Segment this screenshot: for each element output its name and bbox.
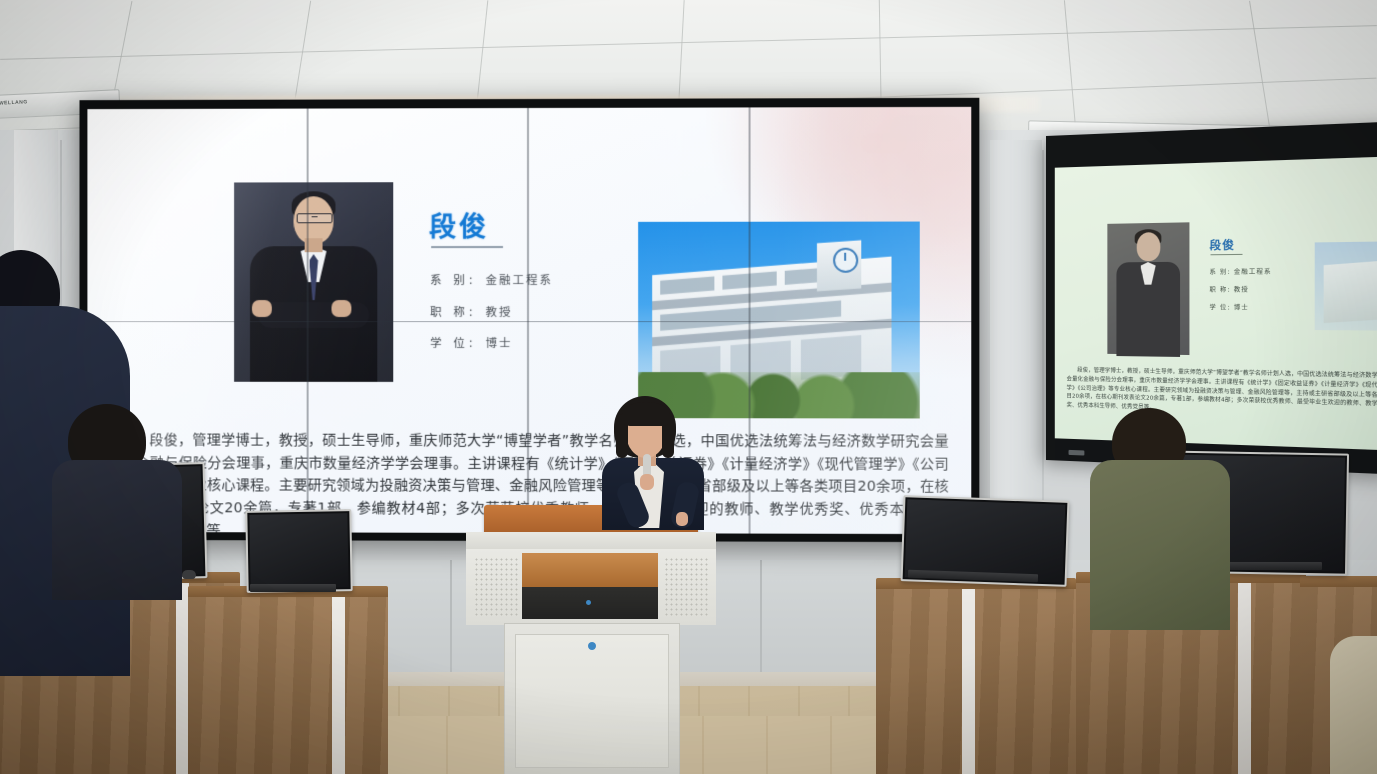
panel-seam-h1: [87, 320, 971, 322]
eyeglasses-icon: [297, 213, 333, 223]
housing-brand-label: WELLANG: [0, 99, 28, 106]
slide-meta-department: 系 别:金融工程系: [430, 272, 553, 288]
classroom-photo-scene: WELLANG: [0, 0, 1377, 774]
slide-decor-blob-2: [860, 133, 906, 153]
faculty-portrait-photo: [234, 182, 393, 382]
side-meta-department: 系 别: 金融工程系: [1209, 266, 1271, 276]
lectern-indicator-led: [586, 600, 591, 605]
side-display-logo: [1069, 450, 1085, 456]
audience-right-mid: [1094, 408, 1224, 608]
side-meta-value-title: 教授: [1234, 286, 1249, 293]
side-meta-value-dept: 金融工程系: [1234, 268, 1272, 276]
side-campus-building-photo: [1315, 241, 1377, 331]
side-meta-label-title: 职 称:: [1209, 286, 1230, 293]
side-portrait-photo: [1107, 222, 1189, 355]
speaker-at-lectern: [596, 396, 714, 528]
meta-label-title: 职 称:: [430, 305, 476, 319]
audience-right-edge: [1330, 636, 1377, 774]
video-wall-screen: 段俊 系 别:金融工程系 职 称:教授 学 位:博士: [87, 107, 971, 534]
slide-person-name: 段俊: [429, 205, 489, 244]
side-name-underline: [1211, 254, 1243, 255]
wall-seam-2: [1042, 150, 1044, 540]
slide-decor-blob-3: [931, 153, 971, 171]
student-mouse-left-1[interactable]: [182, 570, 196, 579]
side-meta-title: 职 称: 教授: [1209, 284, 1248, 294]
side-display-screen: 段俊 系 别: 金融工程系 职 称: 教授 学 位: 博士 段俊，管理学博士，教…: [1055, 156, 1377, 451]
video-wall[interactable]: 段俊 系 别:金融工程系 职 称:教授 学 位:博士: [79, 98, 979, 542]
meta-value-degree: 博士: [486, 336, 513, 350]
lower-wall-seam-3: [450, 560, 452, 678]
slide-meta-degree: 学 位:博士: [430, 335, 512, 351]
lectern-cabinet-lock-icon[interactable]: [588, 642, 596, 650]
lower-wall-seam-4: [760, 560, 762, 678]
slide-name-underline: [431, 246, 503, 248]
side-person-name: 段俊: [1209, 236, 1235, 253]
meta-label-degree: 学 位:: [430, 336, 476, 350]
lectern-cabinet-door[interactable]: [515, 634, 669, 768]
audience-left-mid: [62, 404, 182, 584]
student-monitor-left-2[interactable]: [245, 509, 352, 593]
student-keyboard-left-2[interactable]: [250, 584, 336, 592]
slide-meta-title: 职 称:教授: [430, 304, 512, 320]
side-meta-label-dept: 系 别:: [1209, 269, 1230, 276]
side-meta-value-degree: 博士: [1234, 304, 1249, 311]
clock-icon: [833, 248, 858, 273]
meta-value-title: 教授: [486, 305, 513, 319]
speaker-grille-right: [664, 557, 708, 617]
wall-pillar-right: [990, 140, 1042, 560]
lectern-wood-panel: [522, 553, 658, 587]
desk-right-1: [876, 578, 1076, 774]
side-meta-degree: 学 位: 博士: [1209, 302, 1248, 312]
lectern[interactable]: [466, 505, 716, 774]
side-meta-label-degree: 学 位:: [1209, 304, 1230, 311]
desk-left-2: [188, 586, 388, 774]
meta-label-department: 系 别:: [430, 273, 476, 287]
speaker-grille-left: [474, 557, 518, 617]
lectern-cabinet[interactable]: [504, 623, 680, 774]
meta-value-department: 金融工程系: [486, 273, 553, 287]
